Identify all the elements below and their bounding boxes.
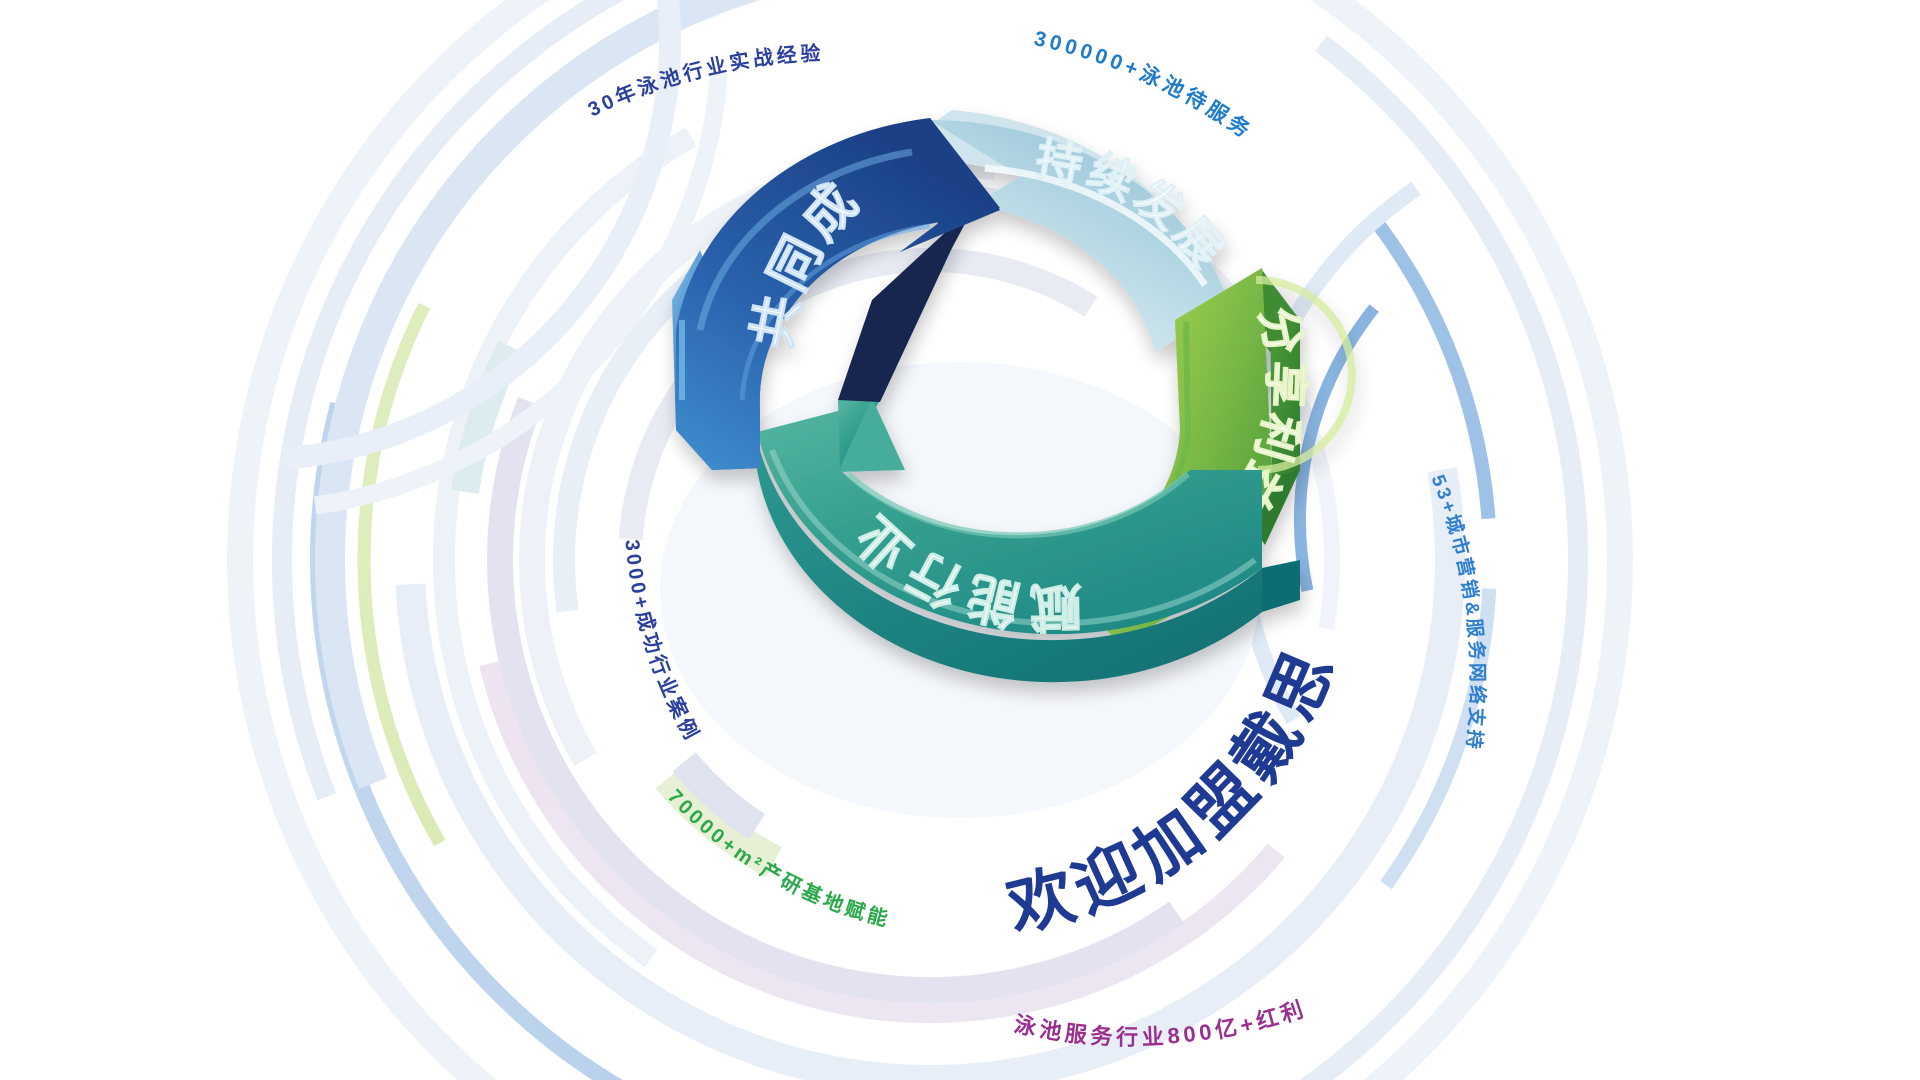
segment-blue[interactable]: 共同成长 (0, 0, 1000, 470)
annotation-pools-served: 300000+泳池待服务 (1032, 27, 1257, 144)
annotation-market-size: 泳池服务行业800亿+红利 (1012, 995, 1310, 1049)
annotation-experience: 30年泳池行业实战经验 (585, 41, 825, 122)
annotation-city-network: 53+城市营销&服务网络支持 (1427, 472, 1490, 753)
annotation-rd-base: 70000+m²产研基地赋能 (663, 785, 893, 931)
poster-canvas: 持续发展 分享利益 (0, 0, 1920, 1080)
growth-cycle-diagram: 持续发展 分享利益 (0, 0, 1920, 1080)
